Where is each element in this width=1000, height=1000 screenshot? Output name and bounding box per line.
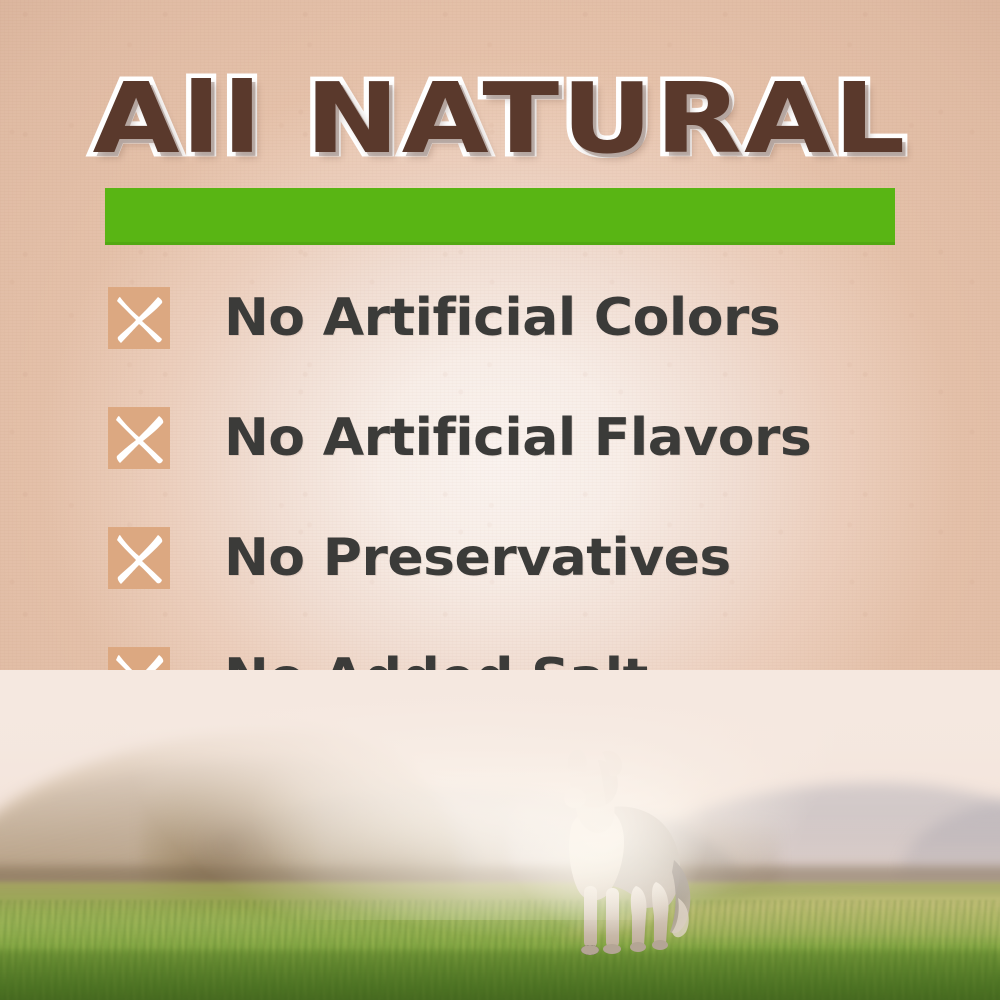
product-feature-panel: All NATURAL No Artificial Colors No Arti…	[0, 0, 1000, 1000]
foreground-grass	[0, 950, 1000, 1000]
x-mark-icon	[108, 527, 170, 589]
dog	[528, 748, 704, 958]
claim-row: No Preservatives	[108, 498, 968, 618]
x-mark-icon	[108, 407, 170, 469]
claim-row: No Artificial Colors	[108, 258, 968, 378]
claim-row: No Artificial Flavors	[108, 378, 968, 498]
claims-list: No Artificial Colors No Artificial Flavo…	[108, 258, 968, 738]
x-mark-icon	[108, 287, 170, 349]
claim-label: No Artificial Colors	[224, 288, 780, 348]
claim-label: No Preservatives	[224, 528, 731, 588]
headline-green-band	[105, 188, 895, 245]
headline-title: All NATURAL	[0, 60, 1000, 178]
claim-label: No Artificial Flavors	[224, 408, 811, 468]
headline-block: All NATURAL	[0, 60, 1000, 200]
landscape-photo	[0, 670, 1000, 1000]
